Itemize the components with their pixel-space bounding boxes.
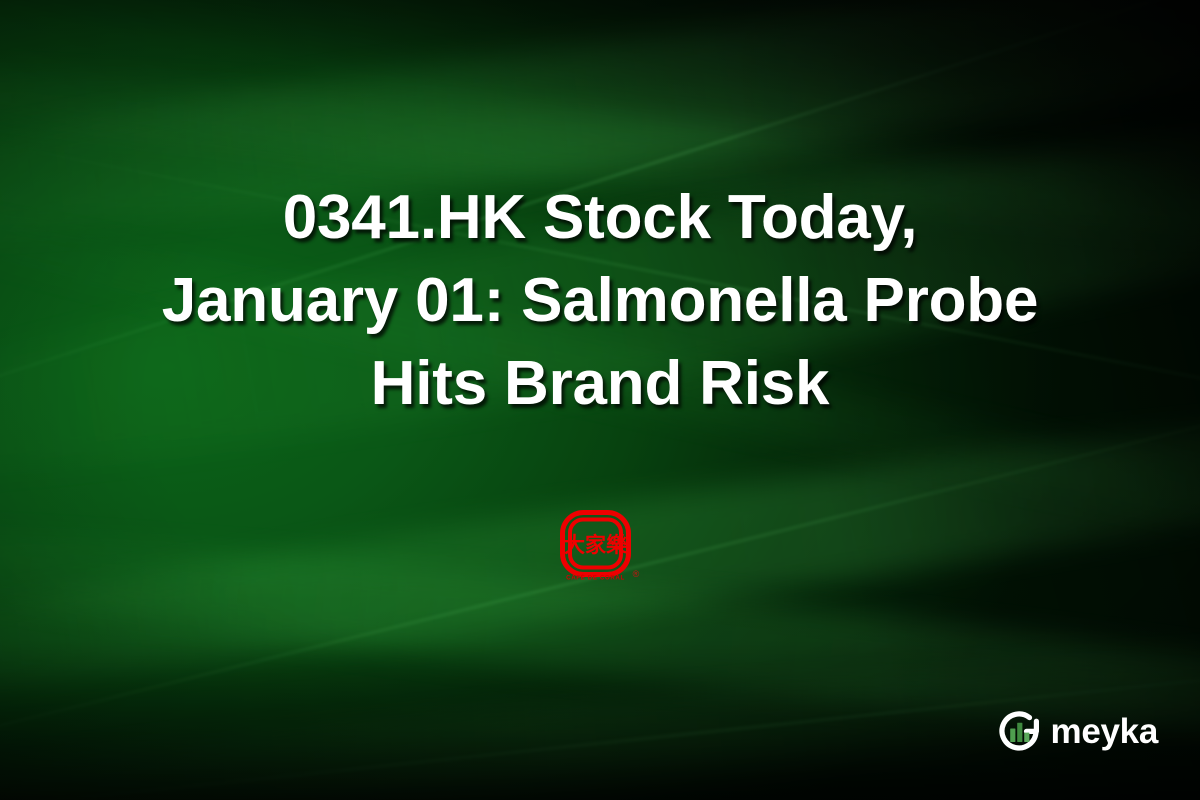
company-logo: 大家樂 CAFÉ DE CORAL ®	[0, 505, 1200, 591]
headline-line-2: January 01: Salmonella Probe	[162, 266, 1039, 335]
meyka-watermark[interactable]: meyka	[996, 708, 1158, 754]
logo-registered-icon: ®	[633, 569, 640, 579]
meyka-wordmark: meyka	[1051, 714, 1158, 749]
logo-chinese-characters: 大家樂	[564, 533, 628, 557]
page-title: 0341.HK Stock Today, January 01: Salmone…	[60, 176, 1140, 425]
headline-line-1: 0341.HK Stock Today,	[283, 183, 918, 252]
share-card: 0341.HK Stock Today, January 01: Salmone…	[0, 0, 1200, 800]
logo-wordmark: CAFÉ DE CORAL	[566, 574, 625, 582]
headline-line-3: Hits Brand Risk	[371, 349, 830, 418]
meyka-bar-chart-ring-icon	[996, 708, 1042, 754]
card-content: 0341.HK Stock Today, January 01: Salmone…	[0, 0, 1200, 800]
